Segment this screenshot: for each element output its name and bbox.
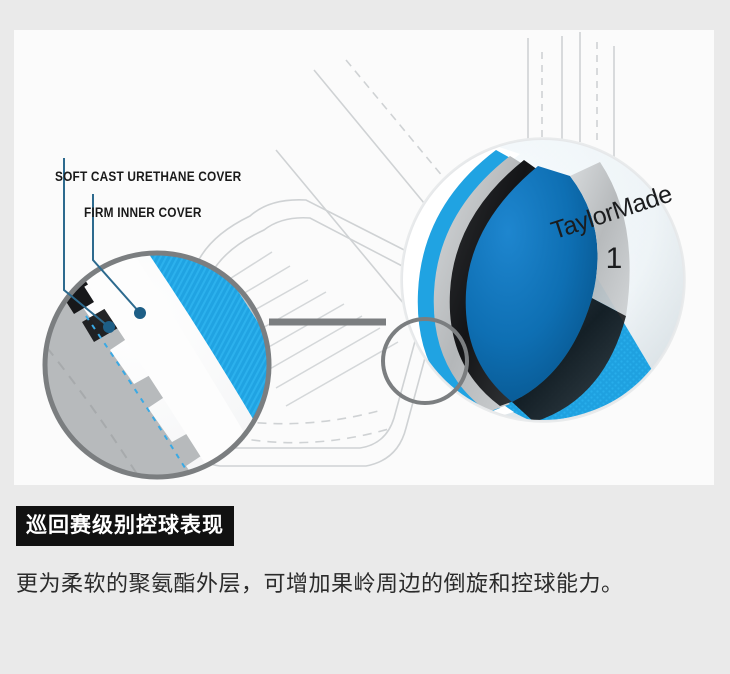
callout-label-soft-cast-urethane-cover: SOFT CAST URETHANE COVER	[55, 169, 241, 184]
golf-ball-cutaway-diagram: TaylorMade 1	[14, 30, 714, 485]
callout-dot-firm-inner	[134, 307, 146, 319]
callout-label-firm-inner-cover: FIRM INNER COVER	[84, 205, 202, 220]
infographic-page: TaylorMade 1	[0, 0, 730, 674]
callout-dot-soft-cast	[103, 321, 115, 333]
section-body-text: 更为柔软的聚氨酯外层，可增加果岭周边的倒旋和控球能力。	[16, 566, 716, 602]
product-diagram-panel: TaylorMade 1	[14, 30, 714, 485]
section-heading: 巡回赛级别控球表现	[16, 506, 234, 546]
ball-number: 1	[606, 242, 623, 275]
